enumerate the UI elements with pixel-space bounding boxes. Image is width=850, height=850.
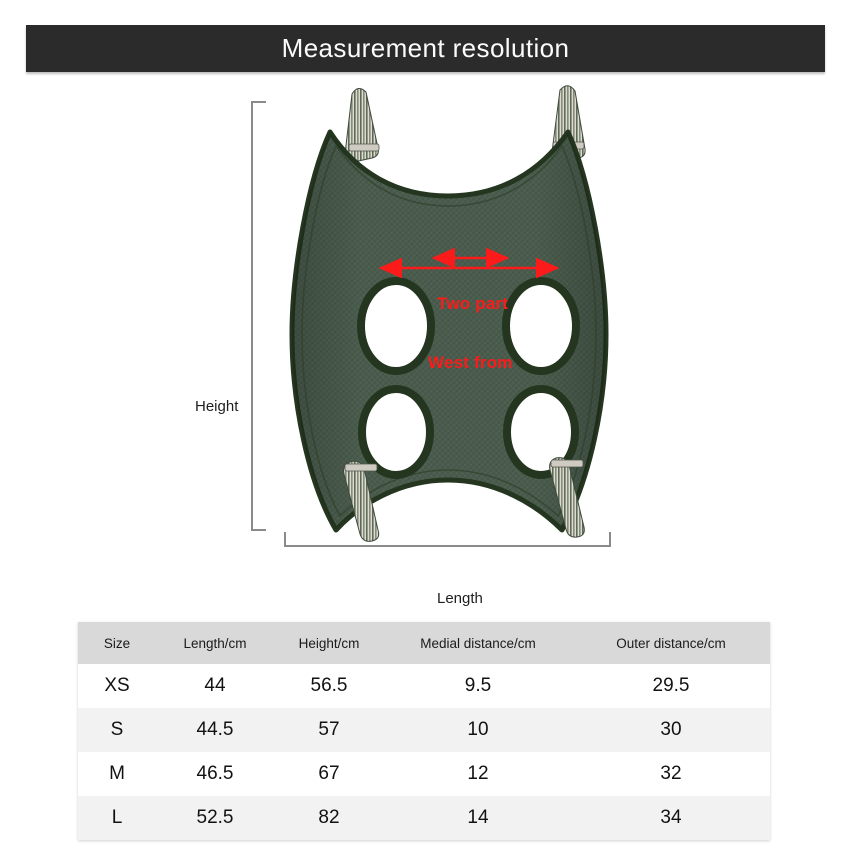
table-row: S 44.5 57 10 30 [78, 708, 770, 752]
cell-height: 82 [274, 796, 384, 840]
table-row: XS 44 56.5 9.5 29.5 [78, 664, 770, 708]
table-header-row: Size Length/cm Height/cm Medial distance… [78, 622, 770, 664]
cell-length: 44.5 [156, 708, 274, 752]
table-row: L 52.5 82 14 34 [78, 796, 770, 840]
cell-medial: 9.5 [384, 664, 572, 708]
cell-medial: 14 [384, 796, 572, 840]
cell-size: XS [78, 664, 156, 708]
leg-hole-bottom-left [362, 389, 430, 475]
cell-outer: 32 [572, 752, 770, 796]
column-header-medial-distance: Medial distance/cm [384, 622, 572, 664]
length-bracket [285, 532, 610, 546]
height-dimension-label: Height [195, 398, 238, 415]
cell-length: 46.5 [156, 752, 274, 796]
column-header-height: Height/cm [274, 622, 384, 664]
cell-length: 44 [156, 664, 274, 708]
length-dimension-label: Length [437, 590, 483, 607]
column-header-size: Size [78, 622, 156, 664]
cell-size: S [78, 708, 156, 752]
cell-outer: 29.5 [572, 664, 770, 708]
table-row: M 46.5 67 12 32 [78, 752, 770, 796]
header-banner: Measurement resolution [26, 25, 825, 72]
cell-height: 56.5 [274, 664, 384, 708]
outer-distance-annotation: West from [428, 353, 513, 373]
page-title: Measurement resolution [282, 33, 570, 64]
height-bracket [252, 102, 266, 530]
cell-height: 67 [274, 752, 384, 796]
product-measurement-diagram: Height Length Two part West from [0, 72, 850, 600]
cell-medial: 10 [384, 708, 572, 752]
strap-top-left [345, 88, 379, 162]
cell-outer: 30 [572, 708, 770, 752]
medial-distance-annotation: Two part [437, 294, 508, 314]
cell-outer: 34 [572, 796, 770, 840]
leg-hole-top-right [506, 281, 576, 371]
cell-medial: 12 [384, 752, 572, 796]
size-chart-table: Size Length/cm Height/cm Medial distance… [78, 622, 770, 840]
column-header-outer-distance: Outer distance/cm [572, 622, 770, 664]
leg-hole-top-left [361, 281, 431, 371]
cell-height: 57 [274, 708, 384, 752]
cell-size: L [78, 796, 156, 840]
cell-length: 52.5 [156, 796, 274, 840]
hammock-diagram-svg [0, 72, 850, 600]
cell-size: M [78, 752, 156, 796]
column-header-length: Length/cm [156, 622, 274, 664]
